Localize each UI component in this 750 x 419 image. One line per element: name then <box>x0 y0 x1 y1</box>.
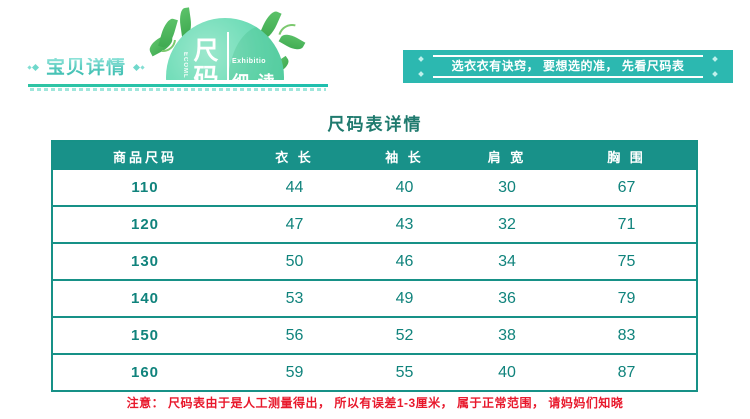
cell-size: 110 <box>52 170 237 206</box>
cell-sleeve: 52 <box>352 317 457 354</box>
cell-length: 47 <box>237 206 352 243</box>
cell-length: 56 <box>237 317 352 354</box>
table-row: 120 47 43 32 71 <box>52 206 697 243</box>
cell-size: 140 <box>52 280 237 317</box>
cell-shoulder: 36 <box>457 280 557 317</box>
cell-sleeve: 43 <box>352 206 457 243</box>
cell-bust: 79 <box>557 280 697 317</box>
page-header: 宝贝详情 ECOML 尺 码 <box>0 0 750 100</box>
logo-dome-clip: ECOML 尺 码 Exhibitio 细 读 <box>140 2 310 80</box>
table-body: 110 44 40 30 67 120 47 43 32 71 130 50 4… <box>52 170 697 391</box>
logo-main-label: 尺 码 <box>191 38 221 80</box>
tagline-banner: 选衣衣有诀窍， 要想选的准， 先看尺码表 <box>403 50 733 83</box>
logo-main-char-2: 码 <box>191 65 221 80</box>
banner-rule-bottom <box>433 76 703 78</box>
cell-length: 59 <box>237 354 352 391</box>
cell-sleeve: 40 <box>352 170 457 206</box>
cell-size: 150 <box>52 317 237 354</box>
cell-bust: 87 <box>557 354 697 391</box>
page-title: 尺码表详情 <box>0 110 750 135</box>
cell-size: 120 <box>52 206 237 243</box>
column-header-bust: 胸 围 <box>557 141 697 170</box>
logo-main-char-1: 尺 <box>191 38 221 65</box>
cell-bust: 75 <box>557 243 697 280</box>
column-header-size: 商品尺码 <box>52 141 237 170</box>
cell-length: 44 <box>237 170 352 206</box>
logo-divider-line <box>227 32 229 80</box>
measurement-disclaimer: 注意： 尺码表由于是人工测量得出， 所以有误差1-3厘米， 属于正常范围， 请妈… <box>0 394 750 411</box>
cell-bust: 83 <box>557 317 697 354</box>
logo-secondary-label: 细 读 <box>232 68 277 80</box>
cell-shoulder: 30 <box>457 170 557 206</box>
table-row: 110 44 40 30 67 <box>52 170 697 206</box>
diamond-icon-left <box>28 65 38 70</box>
cell-length: 50 <box>237 243 352 280</box>
logo-text-group: ECOML 尺 码 Exhibitio 细 读 <box>166 18 284 80</box>
cell-shoulder: 38 <box>457 317 557 354</box>
column-header-shoulder: 肩 宽 <box>457 141 557 170</box>
column-header-sleeve: 袖 长 <box>352 141 457 170</box>
size-chart-table: 商品尺码 衣 长 袖 长 肩 宽 胸 围 110 44 40 30 67 120… <box>51 140 698 392</box>
size-chart-logo: ECOML 尺 码 Exhibitio 细 读 <box>140 2 310 94</box>
table-header-row: 商品尺码 衣 长 袖 长 肩 宽 胸 围 <box>52 141 697 170</box>
cell-size: 160 <box>52 354 237 391</box>
cell-length: 53 <box>237 280 352 317</box>
cell-size: 130 <box>52 243 237 280</box>
breadcrumb-label: 宝贝详情 <box>46 58 126 77</box>
breadcrumb-product-details: 宝贝详情 <box>28 58 144 77</box>
logo-en-label: Exhibitio <box>232 58 266 65</box>
cell-shoulder: 32 <box>457 206 557 243</box>
column-header-length: 衣 长 <box>237 141 352 170</box>
cell-shoulder: 34 <box>457 243 557 280</box>
cell-sleeve: 49 <box>352 280 457 317</box>
logo-vertical-en-label: ECOML <box>182 52 188 79</box>
cell-sleeve: 55 <box>352 354 457 391</box>
table-row: 130 50 46 34 75 <box>52 243 697 280</box>
cell-sleeve: 46 <box>352 243 457 280</box>
cell-shoulder: 40 <box>457 354 557 391</box>
cell-bust: 67 <box>557 170 697 206</box>
table-row: 140 53 49 36 79 <box>52 280 697 317</box>
table-row: 160 59 55 40 87 <box>52 354 697 391</box>
table-row: 150 56 52 38 83 <box>52 317 697 354</box>
table-header: 商品尺码 衣 长 袖 长 肩 宽 胸 围 <box>52 141 697 170</box>
cell-bust: 71 <box>557 206 697 243</box>
tagline-text: 选衣衣有诀窍， 要想选的准， 先看尺码表 <box>403 57 733 74</box>
